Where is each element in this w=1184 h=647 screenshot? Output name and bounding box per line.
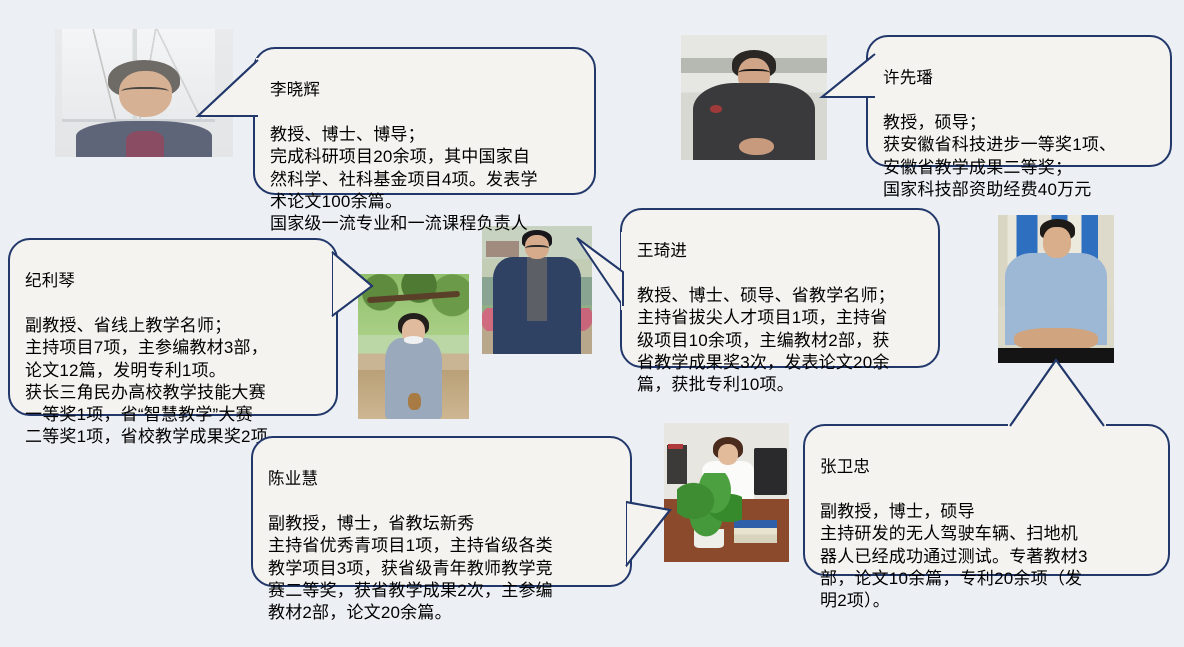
callout-wang-qijin[interactable]: 王琦进 教授、博士、硕导、省教学名师； 主持省拔尖人才项目1项，主持省 级项目1… (620, 208, 940, 368)
callout-chen-yehui[interactable]: 陈业慧 副教授，博士，省教坛新秀 主持省优秀青项目1项，主持省级各类 教学项目3… (251, 436, 632, 587)
slide-canvas: 李晓辉 教授、博士、博导； 完成科研项目20余项，其中国家自 然科学、社科基金项… (0, 0, 1184, 592)
photo-art-li-xiaohui (55, 29, 233, 157)
callout-li-xiaohui[interactable]: 李晓辉 教授、博士、博导； 完成科研项目20余项，其中国家自 然科学、社科基金项… (253, 47, 596, 195)
photo-chen-yehui (664, 423, 789, 562)
photo-zhang-weizhong (998, 215, 1114, 363)
photo-art-xu-xianfan (681, 35, 827, 160)
profile-body-ji-liqin: 副教授、省线上教学名师； 主持项目7项，主参编教材3部， 论文12篇，发明专利1… (25, 315, 323, 449)
profile-name-chen-yehui: 陈业慧 (268, 469, 617, 491)
photo-art-chen-yehui (664, 423, 789, 562)
profile-body-xu-xianfan: 教授，硕导； 获安徽省科技进步一等奖1项、 安徽省教学成果二等奖； 国家科技部资… (883, 112, 1157, 201)
profile-name-wang-qijin: 王琦进 (637, 241, 925, 263)
callout-xu-xianfan[interactable]: 许先璠 教授，硕导； 获安徽省科技进步一等奖1项、 安徽省教学成果二等奖； 国家… (866, 35, 1172, 167)
photo-ji-liqin (358, 274, 469, 419)
photo-art-ji-liqin (358, 274, 469, 419)
callout-zhang-weizhong[interactable]: 张卫忠 副教授，博士，硕导 主持研发的无人驾驶车辆、扫地机 器人已经成功通过测试… (803, 424, 1170, 576)
profile-name-li-xiaohui: 李晓辉 (270, 80, 581, 102)
profile-body-chen-yehui: 副教授，博士，省教坛新秀 主持省优秀青项目1项，主持省级各类 教学项目3项，获省… (268, 513, 617, 624)
profile-body-zhang-weizhong: 副教授，博士，硕导 主持研发的无人驾驶车辆、扫地机 器人已经成功通过测试。专著教… (820, 501, 1155, 612)
profile-body-wang-qijin: 教授、博士、硕导、省教学名师； 主持省拔尖人才项目1项，主持省 级项目10余项，… (637, 285, 925, 396)
profile-name-zhang-weizhong: 张卫忠 (820, 457, 1155, 479)
photo-art-zhang-weizhong (998, 215, 1114, 363)
photo-li-xiaohui (55, 29, 233, 157)
profile-name-ji-liqin: 纪利琴 (25, 271, 323, 293)
photo-xu-xianfan (681, 35, 827, 160)
profile-body-li-xiaohui: 教授、博士、博导； 完成科研项目20余项，其中国家自 然科学、社科基金项目4项。… (270, 124, 581, 235)
profile-name-xu-xianfan: 许先璠 (883, 68, 1157, 90)
callout-ji-liqin[interactable]: 纪利琴 副教授、省线上教学名师； 主持项目7项，主参编教材3部， 论文12篇，发… (8, 238, 338, 416)
